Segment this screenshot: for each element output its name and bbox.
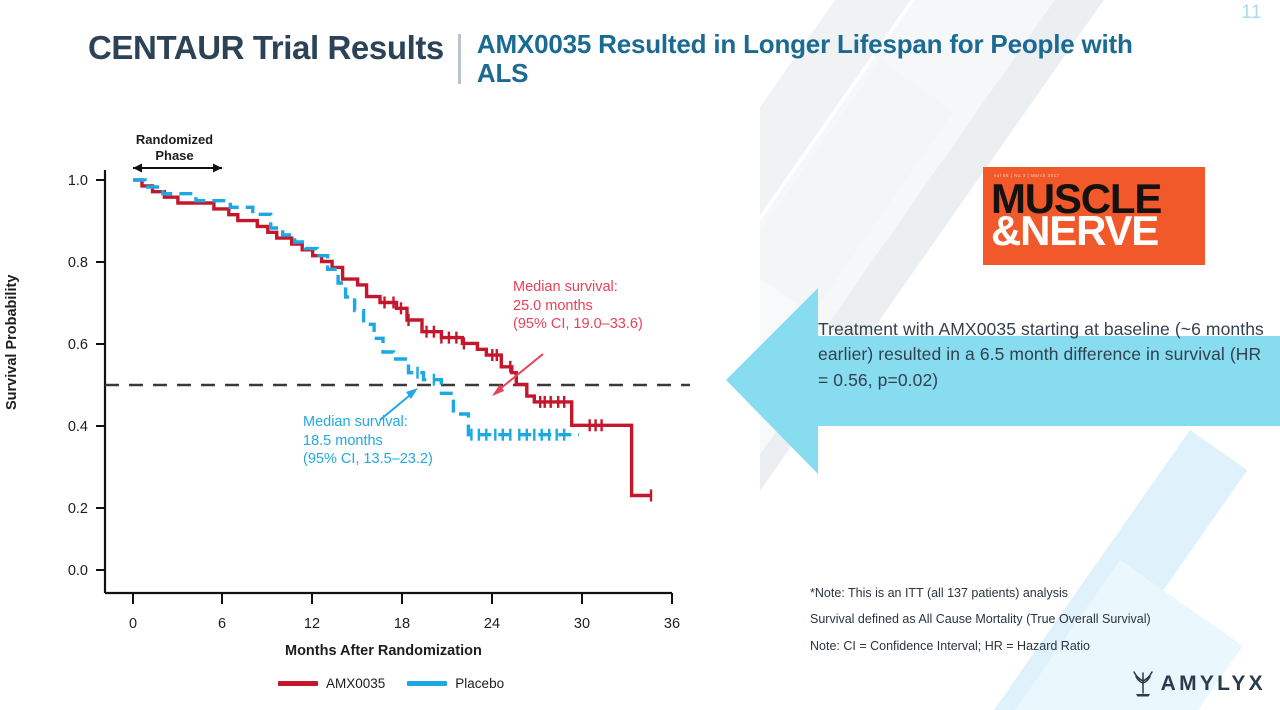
legend-swatch-amx0035 xyxy=(278,681,318,686)
randomized-phase-label: Randomized Phase xyxy=(122,132,227,164)
key-takeaway-callout: Treatment with AMX0035 starting at basel… xyxy=(726,288,1280,474)
amylyx-wordmark: AMYLYX xyxy=(1161,672,1266,696)
chart-canvas: 1.0 0.8 0.6 0.4 0.2 0.0 0 6 12 18 24 30 … xyxy=(0,110,720,710)
y-tick-0.4: 0.4 xyxy=(68,419,88,435)
footnote-1: *Note: This is an ITT (all 137 patients)… xyxy=(810,580,1151,606)
legend-swatch-placebo xyxy=(407,681,447,686)
x-tick-36: 36 xyxy=(664,616,680,632)
legend-item-placebo: Placebo xyxy=(407,676,504,691)
amylyx-logo: AMYLYX xyxy=(1130,670,1266,698)
journal-title-line2: &NERVE xyxy=(991,210,1158,252)
y-tick-0.0: 0.0 xyxy=(68,563,88,579)
kaplan-meier-chart: Survival Probability Months After Random… xyxy=(0,110,720,710)
y-axis-title: Survival Probability xyxy=(4,275,20,410)
callout-text: Treatment with AMX0035 starting at basel… xyxy=(818,317,1268,393)
footnote-2: Survival defined as All Cause Mortality … xyxy=(810,606,1151,632)
y-tick-0.6: 0.6 xyxy=(68,337,88,353)
chart-axes xyxy=(96,170,672,604)
x-tick-6: 6 xyxy=(218,616,226,632)
x-tick-30: 30 xyxy=(574,616,590,632)
axis-tick-labels: 1.0 0.8 0.6 0.4 0.2 0.0 0 6 12 18 24 30 … xyxy=(68,173,680,632)
footnote-3: Note: CI = Confidence Interval; HR = Haz… xyxy=(810,633,1151,659)
randomized-phase-line1: Randomized Phase xyxy=(136,132,213,163)
legend-item-amx0035: AMX0035 xyxy=(278,676,385,691)
y-tick-0.8: 0.8 xyxy=(68,255,88,271)
placebo-median-annotation: Median survival: 18.5 months (95% CI, 13… xyxy=(303,413,433,469)
slide-header: CENTAUR Trial Results AMX0035 Resulted i… xyxy=(88,30,1167,88)
amx0035-median-annotation: Median survival: 25.0 months (95% CI, 19… xyxy=(513,278,643,334)
y-tick-1.0: 1.0 xyxy=(68,173,88,189)
chart-legend: AMX0035 Placebo xyxy=(278,676,504,691)
annotation-leaders xyxy=(380,354,543,420)
randomized-phase-arrow xyxy=(133,164,222,173)
legend-label-amx0035: AMX0035 xyxy=(326,676,385,691)
x-tick-12: 12 xyxy=(304,616,320,632)
x-axis-title: Months After Randomization xyxy=(285,643,482,659)
legend-label-placebo: Placebo xyxy=(455,676,504,691)
x-tick-24: 24 xyxy=(484,616,500,632)
page-title: CENTAUR Trial Results xyxy=(88,30,458,67)
x-tick-0: 0 xyxy=(129,616,137,632)
amylyx-plant-icon xyxy=(1130,670,1156,698)
slide-root: 11 CENTAUR Trial Results AMX0035 Resulte… xyxy=(0,0,1280,710)
footnotes: *Note: This is an ITT (all 137 patients)… xyxy=(810,580,1151,659)
y-tick-0.2: 0.2 xyxy=(68,501,88,517)
page-subtitle: AMX0035 Resulted in Longer Lifespan for … xyxy=(461,30,1167,88)
page-number: 11 xyxy=(1241,2,1262,24)
muscle-and-nerve-journal-cover: vol 55 | No.3 | March 2017 MUSCLE &NERVE xyxy=(983,167,1205,265)
x-tick-18: 18 xyxy=(394,616,410,632)
